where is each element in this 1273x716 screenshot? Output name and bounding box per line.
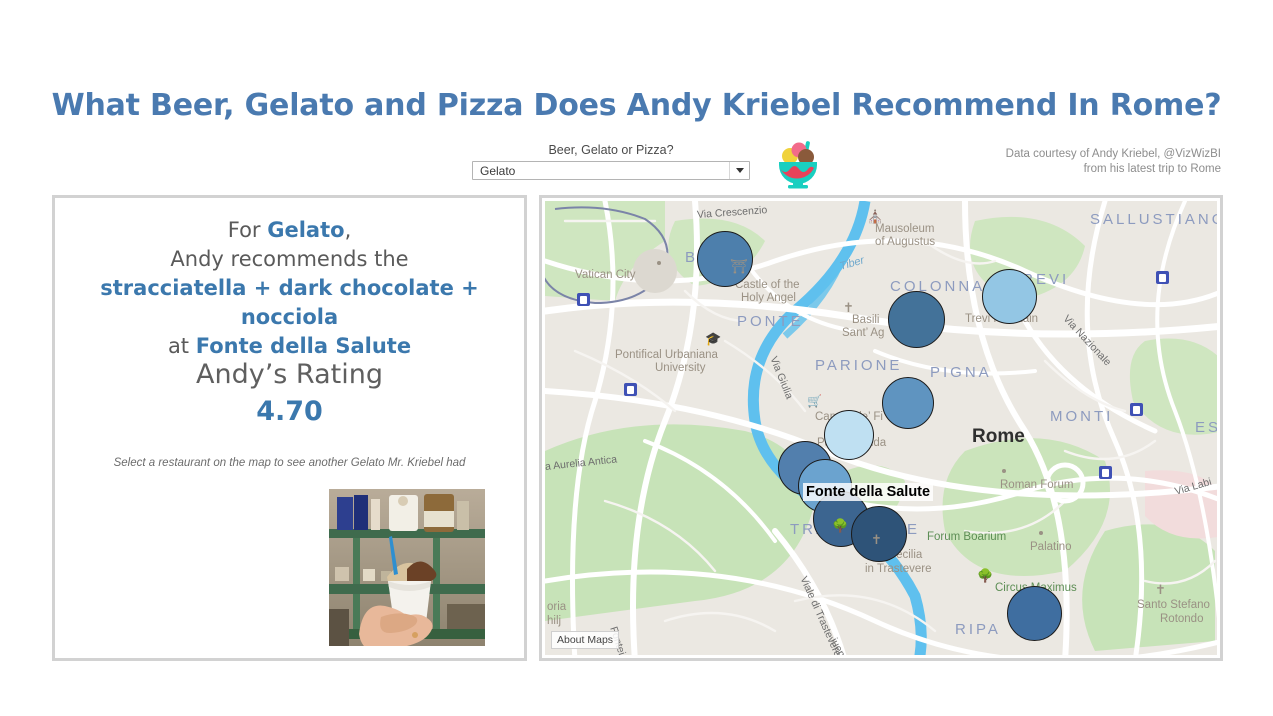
church-cross-icon: ✝ (843, 301, 854, 314)
rec-at-word: at (168, 334, 196, 358)
rec-line-1: For Gelato, (55, 216, 524, 245)
dashboard-page: What Beer, Gelato and Pizza Does Andy Kr… (0, 0, 1273, 716)
rec-restaurant: Fonte della Salute (196, 334, 411, 358)
rating-label: Andy’s Rating (55, 359, 524, 390)
chevron-down-icon[interactable] (729, 162, 749, 179)
church-cross-icon: ✝ (1155, 583, 1166, 596)
rec-category: Gelato (267, 218, 344, 242)
transit-station-icon (1099, 466, 1112, 479)
recommendation-text: For Gelato, Andy recommends the straccia… (55, 216, 524, 361)
rec-line-4: at Fonte della Salute (55, 332, 524, 361)
credit-line-2: from his latest trip to Rome (921, 162, 1221, 177)
rec-line-2: Andy recommends the (55, 245, 524, 274)
transit-station-icon (1130, 403, 1143, 416)
page-title: What Beer, Gelato and Pizza Does Andy Kr… (0, 88, 1273, 123)
transit-station-icon (577, 293, 590, 306)
gelato-sundae-icon (770, 137, 826, 189)
category-select-value[interactable]: Gelato (473, 162, 729, 179)
map-restaurant-marker[interactable] (1007, 586, 1062, 641)
recommendation-panel: For Gelato, Andy recommends the straccia… (52, 195, 527, 661)
data-credit: Data courtesy of Andy Kriebel, @VizWizBI… (921, 147, 1221, 177)
rec-for-suffix: , (345, 218, 352, 242)
about-maps-button[interactable]: About Maps (551, 631, 619, 649)
filter-block: Beer, Gelato or Pizza? Gelato (472, 143, 750, 180)
transit-station-icon (1156, 271, 1169, 284)
tree-icon: 🌳 (977, 569, 993, 582)
map-restaurant-marker[interactable] (882, 377, 934, 429)
map-canvas[interactable]: BORGOPONTEPARIONECOLONNATREVIPIGNAMONTIS… (545, 201, 1217, 655)
rec-flavors: stracciatella + dark chocolate + nocciol… (55, 274, 524, 332)
selected-marker-label: Fonte della Salute (803, 483, 933, 501)
rec-for-prefix: For (228, 218, 268, 242)
poi-dot-icon (1039, 531, 1043, 535)
map-restaurant-marker[interactable] (697, 231, 753, 287)
poi-dot-icon (657, 261, 661, 265)
credit-line-1: Data courtesy of Andy Kriebel, @VizWizBI (921, 147, 1221, 162)
gelato-cup-photo (329, 489, 485, 646)
tree-icon: 🌳 (832, 519, 848, 532)
filter-label: Beer, Gelato or Pizza? (472, 143, 750, 157)
category-select[interactable]: Gelato (472, 161, 750, 180)
rating-value: 4.70 (55, 396, 524, 427)
map-restaurant-marker[interactable] (888, 291, 945, 348)
map-panel[interactable]: BORGOPONTEPARIONECOLONNATREVIPIGNAMONTIS… (539, 195, 1223, 661)
church-cross-icon: ✝ (871, 533, 882, 546)
selection-hint: Select a restaurant on the map to see an… (55, 457, 524, 469)
map-restaurant-marker[interactable] (824, 410, 874, 460)
poi-dot-icon (1002, 469, 1006, 473)
map-restaurant-marker[interactable] (982, 269, 1037, 324)
transit-station-icon (624, 383, 637, 396)
